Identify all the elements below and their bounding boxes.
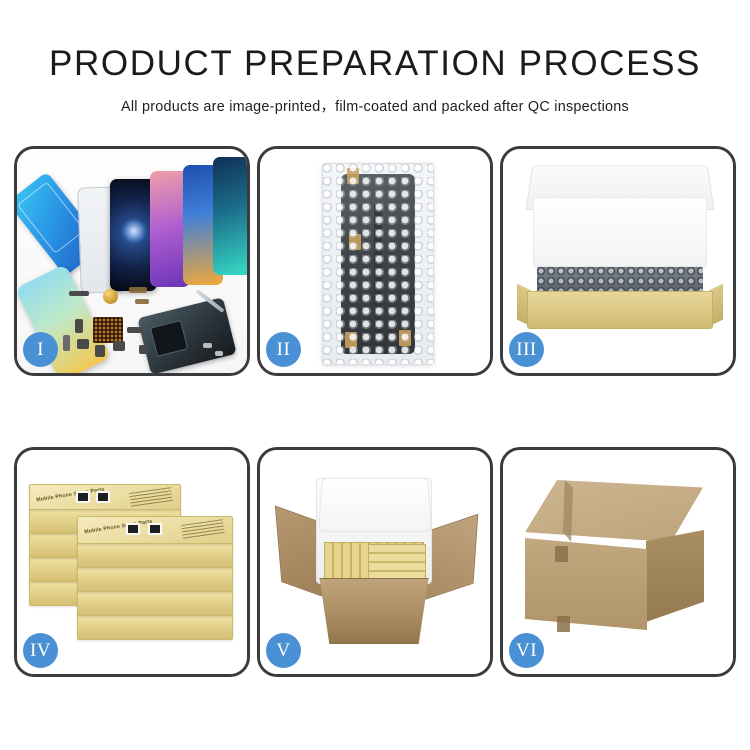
small-part-icon xyxy=(63,335,70,351)
screw-icon xyxy=(215,351,223,356)
box-label-chip-icon xyxy=(126,523,140,535)
flex-cable-icon xyxy=(129,287,147,293)
tape-piece-icon xyxy=(347,168,359,184)
process-steps-grid: I II xyxy=(14,146,736,677)
small-part-icon xyxy=(95,345,105,357)
white-foam-sheet xyxy=(533,197,707,267)
process-step-panel-6: VI xyxy=(500,447,736,677)
step-badge-3: III xyxy=(509,332,544,367)
process-step-panel-2: II xyxy=(257,146,493,376)
teal-gradient-phone-icon xyxy=(213,157,247,275)
step-badge-5: V xyxy=(266,633,301,668)
page-subtitle: All products are image-printed，film-coat… xyxy=(0,95,750,116)
stacked-box-top-front: Mobile Phone Spare Parts xyxy=(77,516,233,544)
box-label-text: Mobile Phone Spare Parts xyxy=(36,487,105,504)
carton-top-seam xyxy=(563,480,573,542)
wrapped-screen-assembly xyxy=(341,174,415,354)
vibration-motor-icon xyxy=(103,289,118,304)
process-step-panel-4: Mobile Phone Spare Parts Mobile Phone Sp… xyxy=(14,447,250,677)
outer-carton-body xyxy=(312,578,436,644)
stacked-box xyxy=(77,542,233,568)
box-label-lines xyxy=(181,519,225,540)
tape-piece-icon xyxy=(399,330,411,346)
small-part-icon xyxy=(127,327,143,333)
kraft-box-front xyxy=(527,291,713,329)
stacked-box-top-back: Mobile Phone Spare Parts xyxy=(29,484,181,510)
box-stack: Mobile Phone Spare Parts Mobile Phone Sp… xyxy=(25,468,239,658)
box-label-chip-icon xyxy=(96,491,110,503)
stacked-box xyxy=(77,590,233,616)
page-title: PRODUCT PREPARATION PROCESS xyxy=(0,44,750,84)
packed-yellow-boxes-row xyxy=(368,544,426,582)
box-label-chip-icon xyxy=(76,491,90,503)
process-step-panel-5: V xyxy=(257,447,493,677)
connector-board-icon xyxy=(93,317,123,343)
carton-top-face xyxy=(525,480,703,542)
small-part-icon xyxy=(75,319,83,333)
step-badge-4: IV xyxy=(23,633,58,668)
carton-front-face xyxy=(525,538,647,630)
process-step-panel-3: III xyxy=(500,146,736,376)
small-part-icon xyxy=(139,345,148,354)
small-part-icon xyxy=(69,291,89,296)
stacked-box xyxy=(77,566,233,592)
tape-piece-icon xyxy=(345,332,357,348)
carton-tape-icon xyxy=(557,616,570,632)
process-step-panel-1: I xyxy=(14,146,250,376)
carton-tape-icon xyxy=(555,546,568,562)
box-label-lines xyxy=(129,487,173,508)
small-part-icon xyxy=(113,341,125,351)
step-badge-1: I xyxy=(23,332,58,367)
flex-cable-icon xyxy=(135,299,149,304)
box-label-chip-icon xyxy=(148,523,162,535)
product-preparation-process-page: PRODUCT PREPARATION PROCESS All products… xyxy=(0,0,750,750)
box-label-text: Mobile Phone Spare Parts xyxy=(84,519,153,536)
page-header: PRODUCT PREPARATION PROCESS All products… xyxy=(0,0,750,116)
tape-piece-icon xyxy=(349,234,361,250)
small-part-icon xyxy=(77,339,89,349)
step-badge-2: II xyxy=(266,332,301,367)
foam-box-lid xyxy=(318,478,432,532)
step-badge-6: VI xyxy=(509,633,544,668)
stacked-box xyxy=(77,614,233,640)
bubble-wrap-bag xyxy=(322,163,434,365)
carton-side-face xyxy=(646,530,704,622)
screw-icon xyxy=(203,343,212,348)
